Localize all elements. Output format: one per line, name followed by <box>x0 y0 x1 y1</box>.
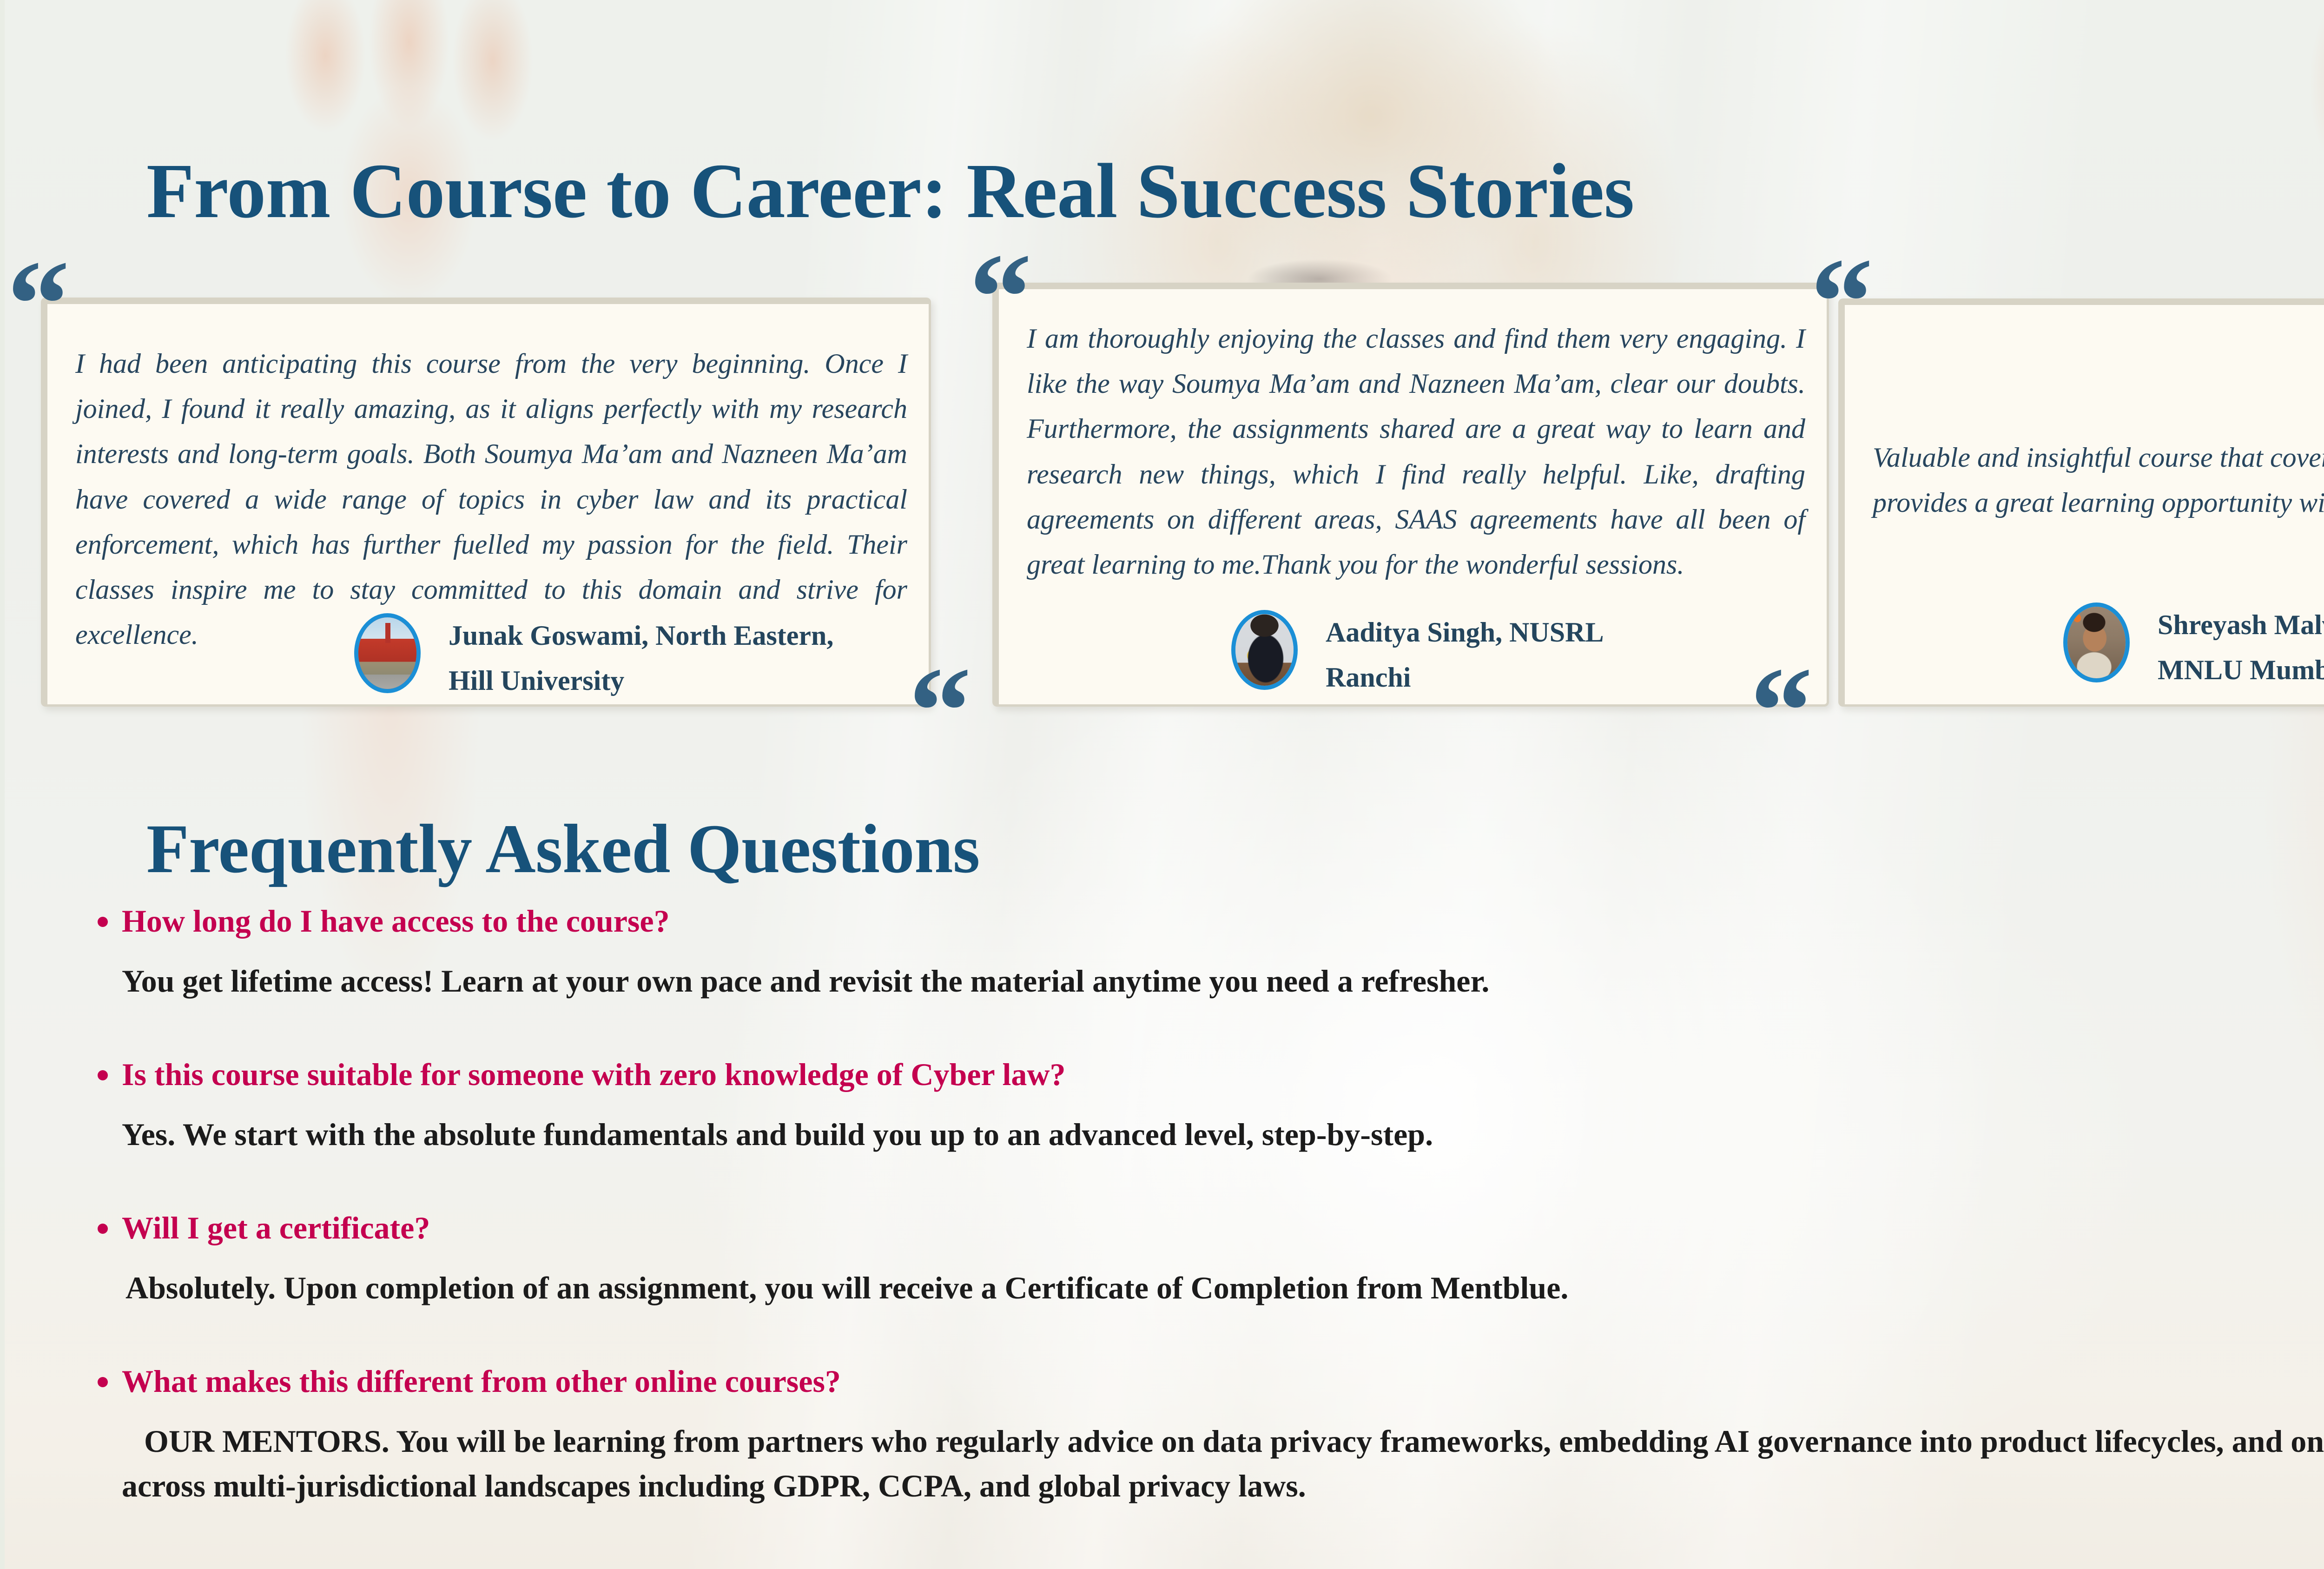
testimonial-quote-text: Valuable and insightful course that cove… <box>1873 435 2324 525</box>
avatar-junak-goswami <box>354 613 421 693</box>
faq-answer-text: Absolutely. Upon completion of an assign… <box>98 1266 2324 1310</box>
avatar-image <box>2067 607 2126 678</box>
testimonial-author-row: Shreyash Malvi, MNLU Mumbai <box>2063 602 2324 693</box>
avatar-shreyash-malvi <box>2063 602 2130 682</box>
faq-question-text: How long do I have access to the course? <box>122 902 670 940</box>
faq-item[interactable]: What makes this different from other onl… <box>98 1362 2324 1508</box>
faq-question-row[interactable]: Is this course suitable for someone with… <box>98 1055 2324 1094</box>
close-quote-icon: “ <box>909 649 971 774</box>
faq-question-row[interactable]: How long do I have access to the course? <box>98 902 2324 940</box>
faq-list: How long do I have access to the course?… <box>98 902 2324 1560</box>
testimonial-card: I am thoroughly enjoying the classes and… <box>992 283 1829 707</box>
faq-answer-text: Yes. We start with the absolute fundamen… <box>98 1112 2324 1157</box>
bullet-icon <box>98 917 108 927</box>
avatar-image <box>358 617 416 689</box>
testimonial-author-name: Aaditya Singh, NUSRL Ranchi <box>1326 610 1604 700</box>
faq-question-text: Will I get a certificate? <box>122 1209 430 1247</box>
open-quote-icon: “ <box>969 235 1032 360</box>
left-edge-strip <box>0 0 5 1569</box>
faq-question-text: What makes this different from other onl… <box>122 1362 841 1401</box>
faq-question-text: Is this course suitable for someone with… <box>122 1055 1065 1094</box>
bullet-icon <box>98 1070 108 1080</box>
slide-page: From Course to Career: Real Success Stor… <box>0 0 2324 1569</box>
faq-answer-text: You get lifetime access! Learn at your o… <box>98 959 2324 1003</box>
testimonial-author-row: Junak Goswami, North Eastern, Hill Unive… <box>354 613 833 703</box>
avatar-aaditya-singh <box>1231 610 1298 690</box>
faq-answer-text: OUR MENTORS. You will be learning from p… <box>98 1419 2324 1508</box>
close-quote-icon: “ <box>1750 649 1813 774</box>
faq-item[interactable]: Is this course suitable for someone with… <box>98 1055 2324 1157</box>
testimonial-author-name: Shreyash Malvi, MNLU Mumbai <box>2158 602 2324 693</box>
avatar-image <box>1235 614 1294 686</box>
testimonial-card: I had been anticipating this course from… <box>41 298 931 707</box>
faq-item[interactable]: How long do I have access to the course?… <box>98 902 2324 1003</box>
faq-question-row[interactable]: What makes this different from other onl… <box>98 1362 2324 1401</box>
open-quote-icon: “ <box>7 242 70 367</box>
testimonial-card: Valuable and insightful course that cove… <box>1838 298 2324 707</box>
faq-item[interactable]: Will I get a certificate? Absolutely. Up… <box>98 1209 2324 1310</box>
open-quote-icon: “ <box>1810 239 1873 365</box>
testimonials-section-title: From Course to Career: Real Success Stor… <box>146 146 1634 236</box>
faq-section-title: Frequently Asked Questions <box>146 809 980 889</box>
testimonial-quote-text: I am thoroughly enjoying the classes and… <box>1027 316 1805 587</box>
faq-question-row[interactable]: Will I get a certificate? <box>98 1209 2324 1247</box>
testimonial-quote-text: I had been anticipating this course from… <box>75 341 907 657</box>
bullet-icon <box>98 1377 108 1387</box>
testimonial-author-row: Aaditya Singh, NUSRL Ranchi <box>1231 610 1604 700</box>
bullet-icon <box>98 1224 108 1234</box>
testimonial-author-name: Junak Goswami, North Eastern, Hill Unive… <box>449 613 833 703</box>
